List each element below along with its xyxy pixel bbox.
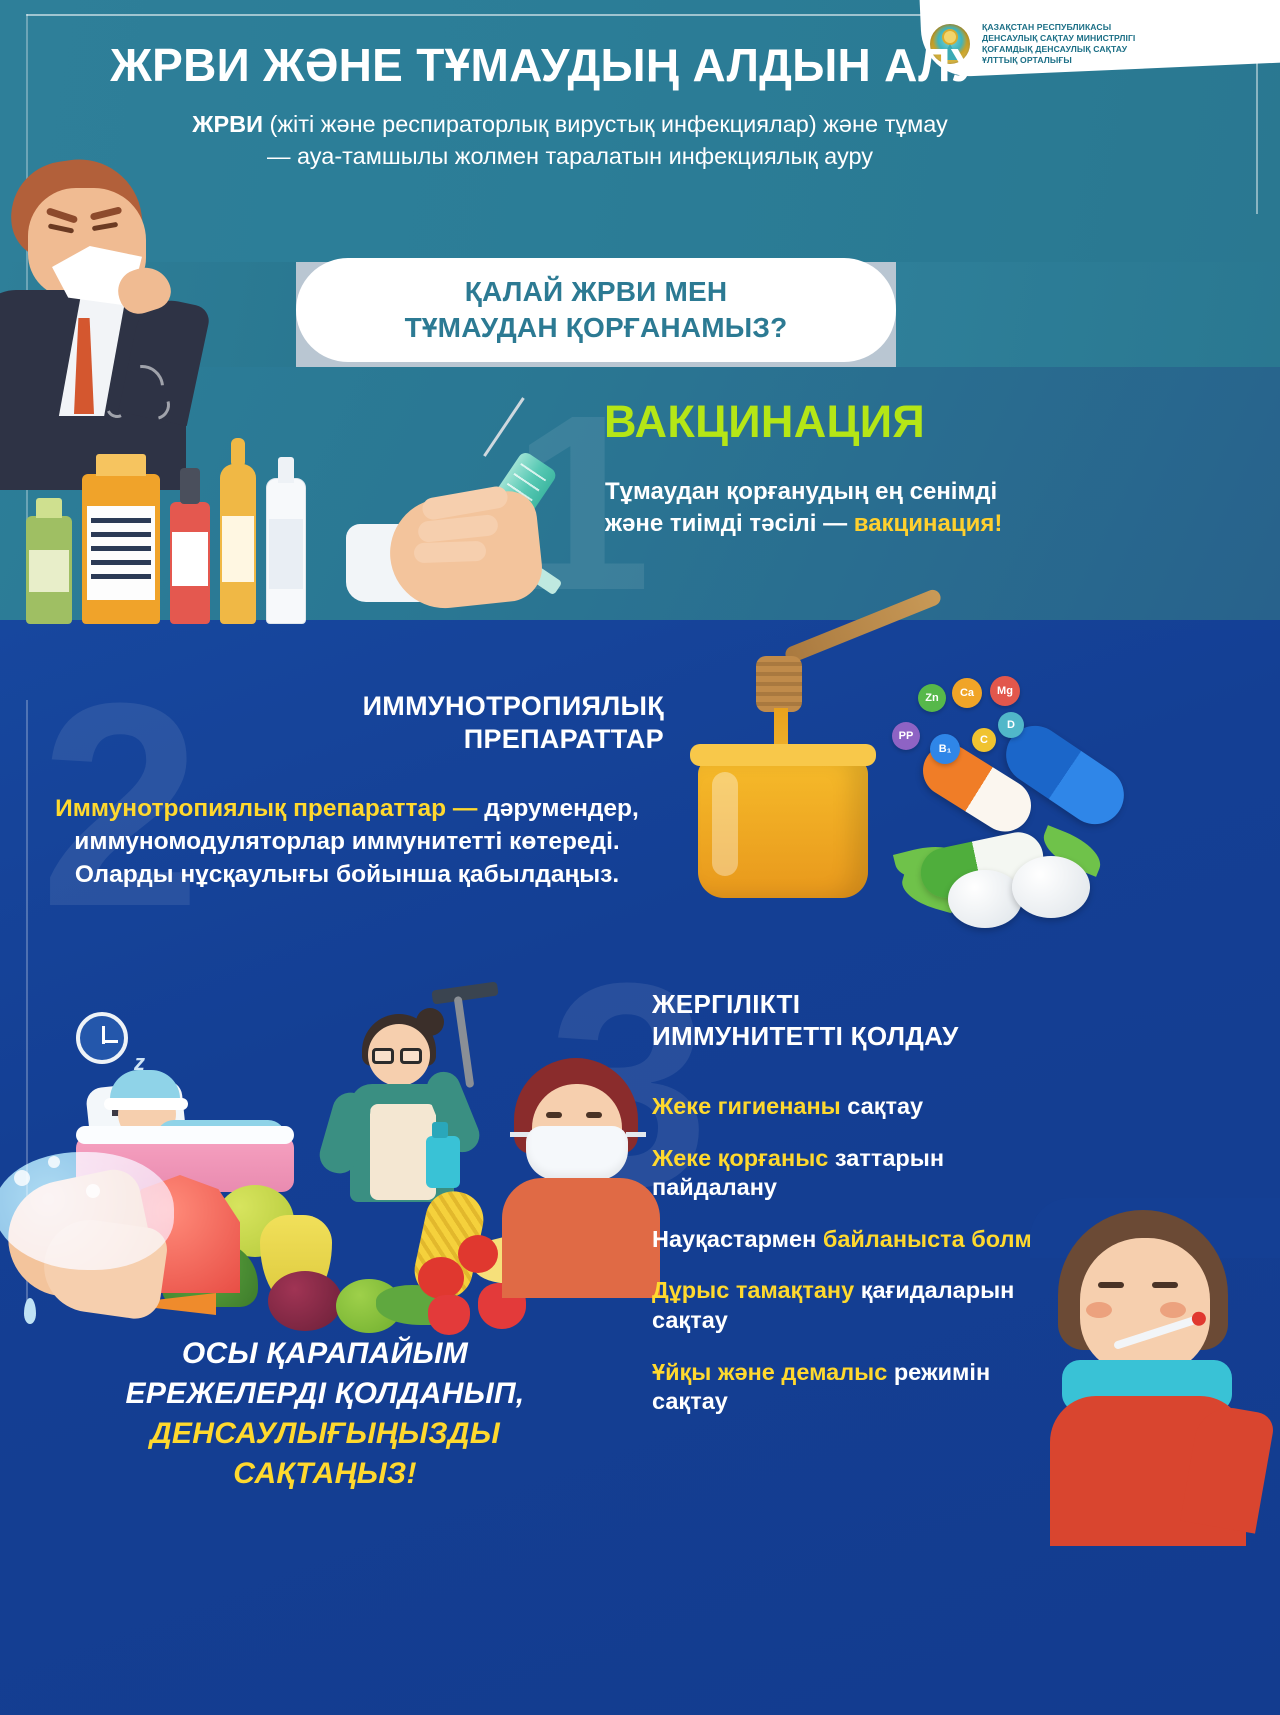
vitamin-badge-pp: PP	[892, 722, 920, 750]
list-item-highlight: Ұйқы және демалыс	[652, 1359, 887, 1385]
masked-woman-illustration	[498, 1058, 668, 1288]
closing-message: ОСЫ ҚАРАПАЙЫМ ЕРЕЖЕЛЕРДІ ҚОЛДАНЫП, ДЕНСА…	[60, 1334, 590, 1494]
vitamin-badge-mg: Mg	[990, 676, 1020, 706]
closing-line-3: ДЕНСАУЛЫҒЫҢЫЗДЫ	[150, 1417, 500, 1450]
list-item: Ұйқы және демалыс режимін сақтау	[652, 1358, 1072, 1417]
question-pill: ҚАЛАЙ ЖРВИ МЕН ТҰМАУДАН ҚОРҒАНАМЫЗ?	[296, 258, 896, 362]
page-subtitle: ЖРВИ (жіті және респираторлық вирустық и…	[190, 108, 950, 173]
list-item-highlight: байланыста болмау	[823, 1226, 1058, 1252]
sick-girl-illustration	[1040, 1210, 1280, 1540]
vitamin-badge-d: D	[998, 712, 1024, 738]
section-2-title: ИММУНОТРОПИЯЛЫҚ ПРЕПАРАТТАР	[200, 690, 664, 756]
section-2-body-highlight: Иммунотропиялық препараттар —	[55, 795, 477, 822]
section-3-list: Жеке гигиенаны сақтау Жеке қорғаныс затт…	[652, 1092, 1072, 1439]
question-pill-text: ҚАЛАЙ ЖРВИ МЕН ТҰМАУДАН ҚОРҒАНАМЫЗ?	[405, 274, 788, 346]
question-line-1: ҚАЛАЙ ЖРВИ МЕН	[465, 276, 728, 307]
section-3-title-line-2: ИММУНИТЕТТІ ҚОЛДАУ	[652, 1021, 959, 1051]
sneezing-man-illustration	[0, 150, 220, 410]
medicine-bottles-illustration	[20, 432, 350, 624]
closing-line-1: ОСЫ ҚАРАПАЙЫМ	[182, 1337, 468, 1370]
list-item-plain: Науқастармен	[652, 1226, 823, 1252]
vitamin-badge-c: C	[972, 728, 996, 752]
section-1-body-highlight: вакцинация!	[854, 510, 1003, 537]
question-line-2: ТҰМАУДАН ҚОРҒАНАМЫЗ?	[405, 312, 788, 343]
section-3-title: ЖЕРГІЛІКТІ ИММУНИТЕТТІ ҚОЛДАУ	[652, 988, 1082, 1052]
list-item: Жеке қорғаныс заттарын пайдалану	[652, 1144, 1072, 1203]
list-item-highlight: Жеке қорғаныс	[652, 1145, 828, 1171]
section-1-title: ВАКЦИНАЦИЯ	[604, 396, 925, 448]
washing-hands-illustration	[0, 1130, 210, 1340]
capsules-illustration: Zn Ca Mg PP B₁ C D	[890, 670, 1220, 940]
subtitle-text: (жіті және респираторлық вирустық инфекц…	[263, 111, 948, 169]
vitamin-badge-zn: Zn	[918, 684, 946, 712]
logo-line-1: ҚАЗАҚСТАН РЕСПУБЛИКАСЫ	[982, 22, 1135, 33]
list-item: Дұрыс тамақтану қағидаларын сақтау	[652, 1276, 1072, 1335]
syringe-illustration	[330, 392, 630, 632]
subtitle-acronym: ЖРВИ	[192, 111, 263, 137]
vitamin-badge-b1: B₁	[930, 734, 960, 764]
vitamin-badge-ca: Ca	[952, 678, 982, 708]
list-item-highlight: Жеке гигиенаны	[652, 1093, 841, 1119]
closing-line-4: САҚТАҢЫЗ!	[233, 1457, 417, 1490]
pill-band-right	[896, 262, 1280, 367]
list-item-highlight: Дұрыс тамақтану	[652, 1277, 854, 1303]
section-2-body: Иммунотропиялық препараттар — дәрумендер…	[30, 793, 664, 891]
page-title: ЖРВИ ЖӘНЕ ТҰМАУДЫҢ АЛДЫН АЛУ	[0, 38, 1090, 92]
section-3-title-line-1: ЖЕРГІЛІКТІ	[652, 989, 800, 1019]
closing-line-2: ЕРЕЖЕЛЕРДІ ҚОЛДАНЫП,	[126, 1377, 525, 1410]
section-2-title-line-2: ПРЕПАРАТТАР	[464, 724, 664, 754]
section-1-body: Тұмаудан қорғанудың ең сенімді және тиім…	[605, 476, 1005, 540]
list-item-plain: сақтау	[841, 1093, 923, 1119]
list-item: Жеке гигиенаны сақтау	[652, 1092, 1072, 1122]
list-item: Науқастармен байланыста болмау	[652, 1225, 1072, 1255]
section-2-title-line-1: ИММУНОТРОПИЯЛЫҚ	[363, 691, 664, 721]
